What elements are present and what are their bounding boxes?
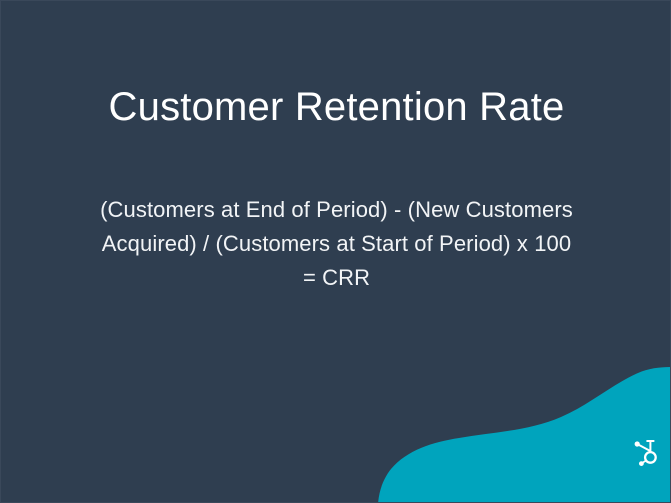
hubspot-sprocket-icon [633,439,659,468]
presentation-slide: Customer Retention Rate (Customers at En… [0,0,671,503]
formula-line-2: Acquired) / (Customers at Start of Perio… [65,227,608,261]
formula-text-block: (Customers at End of Period) - (New Cust… [65,193,608,295]
formula-line-1: (Customers at End of Period) - (New Cust… [65,193,608,227]
formula-line-3: = CRR [65,261,608,295]
page-title: Customer Retention Rate [1,85,671,129]
slide-content: Customer Retention Rate (Customers at En… [1,1,671,503]
